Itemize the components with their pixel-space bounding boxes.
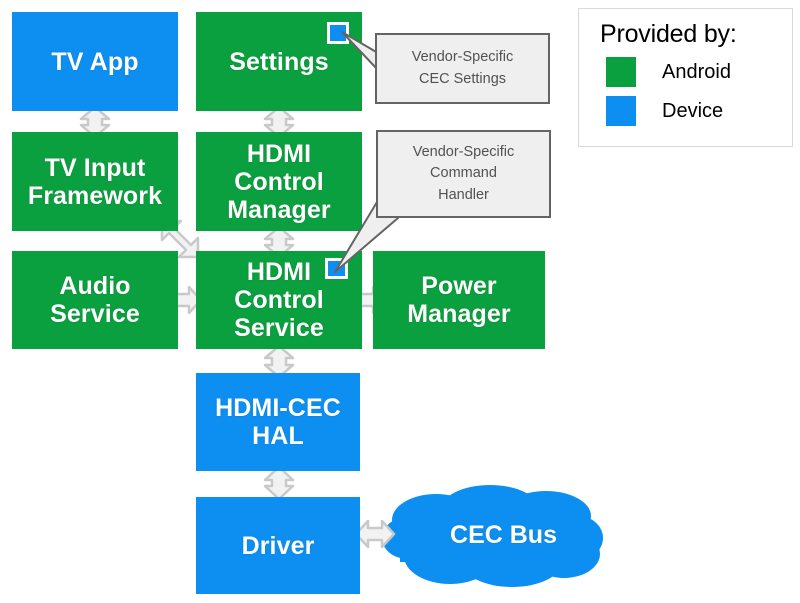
legend-swatch-android [606, 57, 636, 87]
node-audio-service-label: AudioService [46, 272, 144, 328]
cec-bus-cloud: CEC Bus [378, 482, 603, 588]
cec-settings-callout[interactable]: Vendor-SpecificCEC Settings [375, 33, 550, 104]
node-settings-label: Settings [225, 48, 332, 76]
cec-bus-label: CEC Bus [378, 482, 603, 588]
command-handler-callout-text: Vendor-SpecificCommandHandler [413, 142, 515, 205]
command-handler-callout[interactable]: Vendor-SpecificCommandHandler [376, 130, 551, 218]
node-driver-label: Driver [238, 532, 319, 560]
node-hdmi-cec-hal[interactable]: HDMI-CECHAL [196, 373, 360, 471]
node-driver[interactable]: Driver [196, 497, 360, 594]
legend-swatch-device [606, 96, 636, 126]
architecture-diagram: CEC Bus TV App Settings TV InputFramewor… [0, 0, 800, 603]
legend-item-device: Device [606, 96, 723, 126]
legend: Provided by: Android Device [578, 8, 793, 147]
node-hdmi-control-service-label: HDMIControlService [230, 258, 328, 342]
legend-item-android: Android [606, 57, 731, 87]
cec-settings-callout-text: Vendor-SpecificCEC Settings [412, 47, 514, 89]
node-power-manager-label: PowerManager [403, 272, 515, 328]
arrow-hdmi-cec-hal-to-driver [262, 466, 296, 500]
legend-label-android: Android [662, 61, 731, 84]
node-tv-app-label: TV App [47, 48, 142, 76]
legend-title: Provided by: [600, 20, 737, 49]
node-hdmi-cec-hal-label: HDMI-CECHAL [211, 394, 345, 450]
legend-label-device: Device [662, 100, 723, 123]
node-tv-input-framework-label: TV InputFramework [24, 154, 166, 210]
node-hdmi-control-manager-label: HDMIControlManager [223, 140, 335, 224]
arrow-driver-to-cec-bus [355, 517, 395, 551]
node-tv-app[interactable]: TV App [12, 12, 178, 111]
node-audio-service[interactable]: AudioService [12, 251, 178, 349]
node-tv-input-framework[interactable]: TV InputFramework [12, 132, 178, 231]
